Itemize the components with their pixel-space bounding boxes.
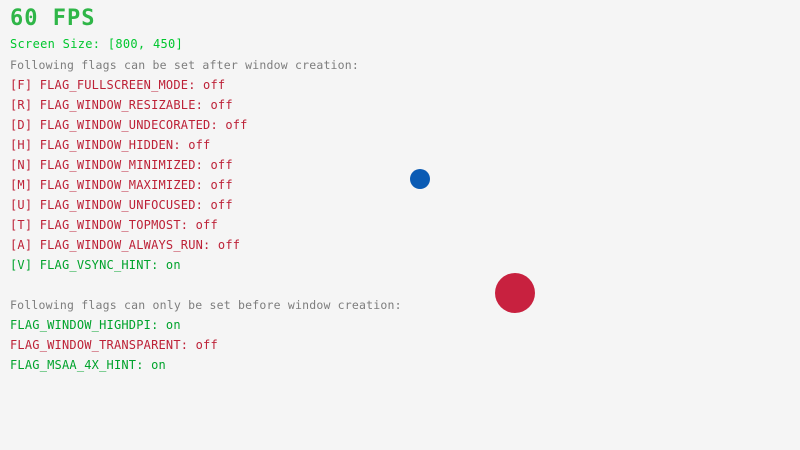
flag-flag-window-resizable[interactable]: [R] FLAG_WINDOW_RESIZABLE: off xyxy=(10,98,233,112)
flag-flag-window-always-run[interactable]: [A] FLAG_WINDOW_ALWAYS_RUN: off xyxy=(10,238,240,252)
flag-flag-window-unfocused[interactable]: [U] FLAG_WINDOW_UNFOCUSED: off xyxy=(10,198,233,212)
flag-flag-window-hidden[interactable]: [H] FLAG_WINDOW_HIDDEN: off xyxy=(10,138,210,152)
flag-flag-fullscreen-mode[interactable]: [F] FLAG_FULLSCREEN_MODE: off xyxy=(10,78,225,92)
app-canvas[interactable]: 60 FPS Screen Size: [800, 450] Following… xyxy=(0,0,800,450)
flag-flag-window-minimized[interactable]: [N] FLAG_WINDOW_MINIMIZED: off xyxy=(10,158,233,172)
flag-flag-window-transparent[interactable]: FLAG_WINDOW_TRANSPARENT: off xyxy=(10,338,218,352)
blue-ball xyxy=(410,169,430,189)
fps-counter: 60 FPS xyxy=(10,6,95,31)
flag-flag-window-maximized[interactable]: [M] FLAG_WINDOW_MAXIMIZED: off xyxy=(10,178,233,192)
screen-size-label: Screen Size: [800, 450] xyxy=(10,37,183,51)
flag-flag-window-undecorated[interactable]: [D] FLAG_WINDOW_UNDECORATED: off xyxy=(10,118,248,132)
before-creation-heading: Following flags can only be set before w… xyxy=(10,298,402,312)
flag-flag-window-highdpi[interactable]: FLAG_WINDOW_HIGHDPI: on xyxy=(10,318,181,332)
after-creation-heading: Following flags can be set after window … xyxy=(10,58,359,72)
flag-flag-msaa-4x-hint[interactable]: FLAG_MSAA_4X_HINT: on xyxy=(10,358,166,372)
red-ball xyxy=(495,273,535,313)
flag-flag-vsync-hint[interactable]: [V] FLAG_VSYNC_HINT: on xyxy=(10,258,181,272)
flag-flag-window-topmost[interactable]: [T] FLAG_WINDOW_TOPMOST: off xyxy=(10,218,218,232)
